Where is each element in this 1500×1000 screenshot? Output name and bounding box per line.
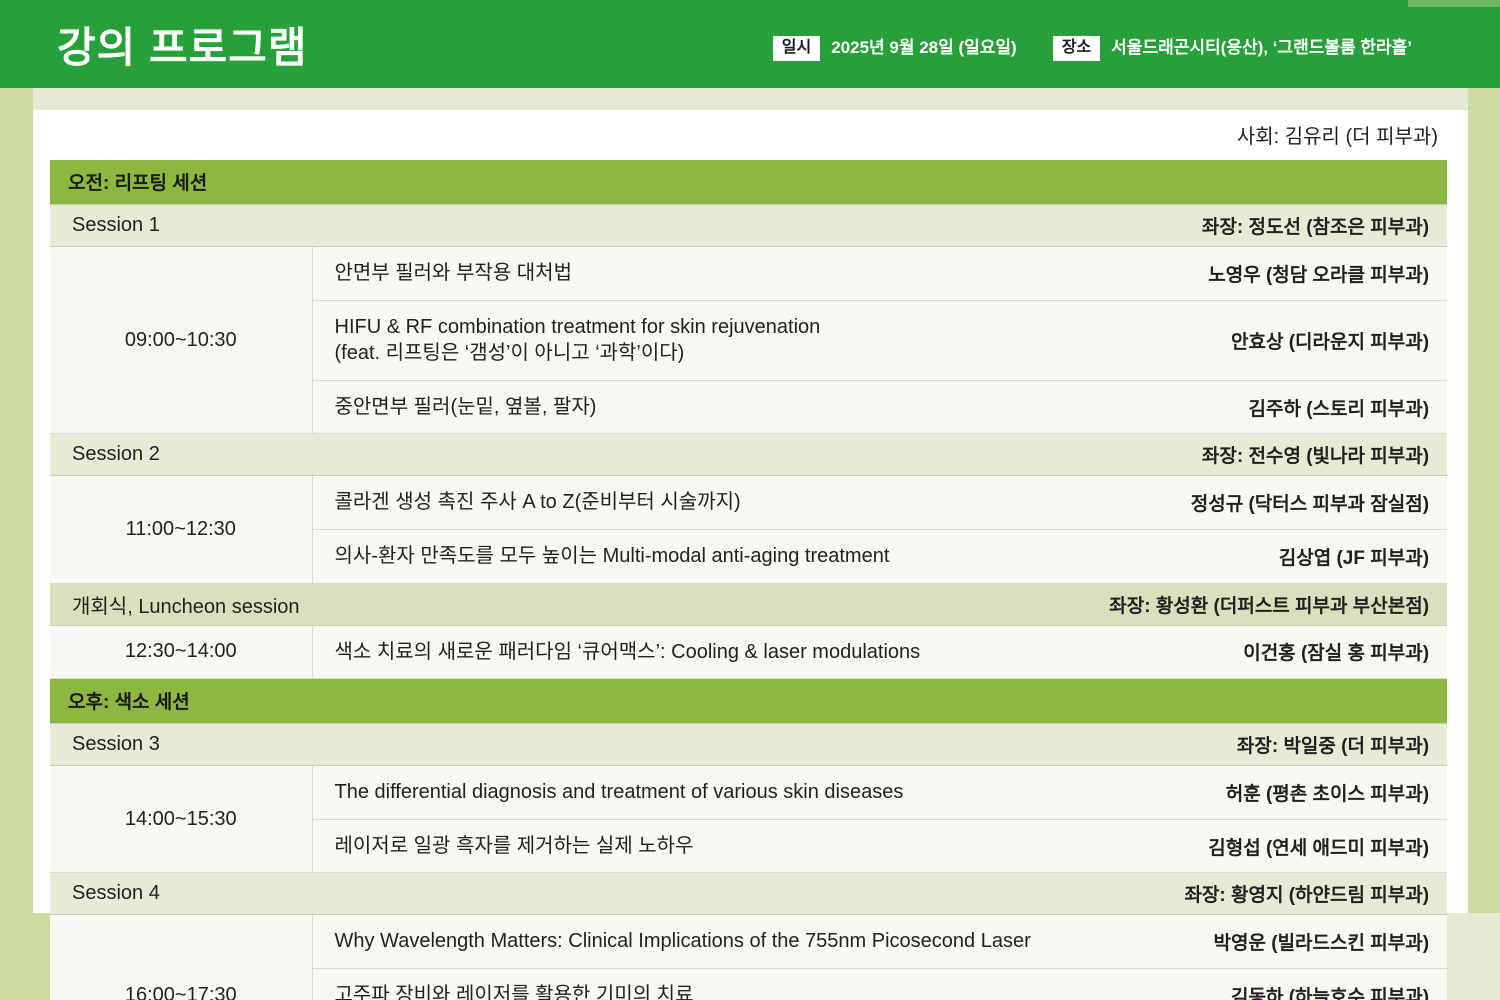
venue-value: 서울드래곤시티(용산), ‘그랜드볼룸 한라홀’	[1111, 39, 1412, 58]
time-cell: 16:00~17:30	[50, 915, 312, 1000]
session-name: 개회식, Luncheon session	[50, 583, 1082, 625]
session-chair: 좌장: 황성환 (더퍼스트 피부과 부산본점)	[1082, 583, 1447, 625]
section-header-label: 오후: 색소 세션	[50, 679, 1447, 724]
speaker-name: 김주하 (스토리 피부과)	[1082, 380, 1447, 434]
schedule-row: 11:00~12:30콜라겐 생성 촉진 주사 A to Z(준비부터 시술까지…	[50, 476, 1447, 530]
schedule-row: 09:00~10:30안면부 필러와 부작용 대처법노영우 (청담 오라클 피부…	[50, 247, 1447, 301]
session-name: Session 1	[50, 205, 1082, 247]
mc-line: 사회: 김유리 (더 피부과)	[1237, 120, 1438, 149]
lecture-title: 의사-환자 만족도를 모두 높이는 Multi-modal anti-aging…	[312, 529, 1082, 583]
lecture-title: Why Wavelength Matters: Clinical Implica…	[312, 915, 1082, 969]
lecture-title: 색소 치료의 새로운 패러다임 ‘큐어맥스’: Cooling & laser …	[312, 625, 1082, 679]
session-name: Session 4	[50, 873, 1082, 915]
header-meta: 일시 2025년 9월 28일 (일요일) 장소 서울드래곤시티(용산), ‘그…	[773, 36, 1412, 61]
under-header-band	[33, 88, 1468, 110]
venue-label-badge: 장소	[1053, 36, 1100, 61]
speaker-name: 허훈 (평촌 초이스 피부과)	[1082, 766, 1447, 820]
date-label-badge: 일시	[773, 36, 820, 61]
speaker-name: 박영운 (빌라드스킨 피부과)	[1082, 915, 1447, 969]
time-cell: 14:00~15:30	[50, 766, 312, 873]
session-header-row: Session 1좌장: 정도선 (참조은 피부과)	[50, 205, 1447, 247]
session-header-row: Session 3좌장: 박일중 (더 피부과)	[50, 724, 1447, 766]
speaker-name: 노영우 (청담 오라클 피부과)	[1082, 247, 1447, 301]
time-cell: 11:00~12:30	[50, 476, 312, 583]
lecture-title: 콜라겐 생성 촉진 주사 A to Z(준비부터 시술까지)	[312, 476, 1082, 530]
session-chair: 좌장: 박일중 (더 피부과)	[1082, 724, 1447, 766]
page-title: 강의 프로그램	[57, 14, 308, 75]
schedule-table: 오전: 리프팅 세션Session 1좌장: 정도선 (참조은 피부과)09:0…	[50, 160, 1447, 1000]
lecture-title: 고주파 장비와 레이저를 활용한 기미의 치료	[312, 968, 1082, 1000]
date-value: 2025년 9월 28일 (일요일)	[831, 39, 1017, 58]
time-cell: 09:00~10:30	[50, 247, 312, 434]
schedule-row: 16:00~17:30Why Wavelength Matters: Clini…	[50, 915, 1447, 969]
page-header: 강의 프로그램 일시 2025년 9월 28일 (일요일) 장소 서울드래곤시티…	[0, 0, 1500, 88]
speaker-name: 안효상 (디라운지 피부과)	[1082, 300, 1447, 380]
schedule-row: 14:00~15:30The differential diagnosis an…	[50, 766, 1447, 820]
speaker-name: 정성규 (닥터스 피부과 잠실점)	[1082, 476, 1447, 530]
speaker-name: 이건홍 (잠실 홍 피부과)	[1082, 625, 1447, 679]
speaker-name: 김형섭 (연세 애드미 피부과)	[1082, 819, 1447, 873]
lecture-title: 레이저로 일광 흑자를 제거하는 실제 노하우	[312, 819, 1082, 873]
section-header-row: 오후: 색소 세션	[50, 679, 1447, 724]
session-header-row: Session 2좌장: 전수영 (빛나라 피부과)	[50, 434, 1447, 476]
lecture-title: 안면부 필러와 부작용 대처법	[312, 247, 1082, 301]
session-chair: 좌장: 정도선 (참조은 피부과)	[1082, 205, 1447, 247]
session-chair: 좌장: 황영지 (하얀드림 피부과)	[1082, 873, 1447, 915]
lecture-title: HIFU & RF combination treatment for skin…	[312, 300, 1082, 380]
left-accent-band	[0, 88, 33, 1000]
schedule-body: 오전: 리프팅 세션Session 1좌장: 정도선 (참조은 피부과)09:0…	[50, 160, 1447, 1000]
program-page: 강의 프로그램 일시 2025년 9월 28일 (일요일) 장소 서울드래곤시티…	[0, 0, 1500, 1000]
session-name: Session 3	[50, 724, 1082, 766]
session-header-row: 개회식, Luncheon session좌장: 황성환 (더퍼스트 피부과 부…	[50, 583, 1447, 625]
session-name: Session 2	[50, 434, 1082, 476]
right-accent-band	[1468, 88, 1500, 913]
lecture-title: The differential diagnosis and treatment…	[312, 766, 1082, 820]
speaker-name: 김상엽 (JF 피부과)	[1082, 529, 1447, 583]
time-cell: 12:30~14:00	[50, 625, 312, 679]
schedule-row: 12:30~14:00색소 치료의 새로운 패러다임 ‘큐어맥스’: Cooli…	[50, 625, 1447, 679]
speaker-name: 김동하 (하늘호수 피부과)	[1082, 968, 1447, 1000]
section-header-row: 오전: 리프팅 세션	[50, 160, 1447, 205]
session-header-row: Session 4좌장: 황영지 (하얀드림 피부과)	[50, 873, 1447, 915]
header-corner-tab	[1408, 0, 1500, 7]
lecture-title: 중안면부 필러(눈밑, 옆볼, 팔자)	[312, 380, 1082, 434]
session-chair: 좌장: 전수영 (빛나라 피부과)	[1082, 434, 1447, 476]
section-header-label: 오전: 리프팅 세션	[50, 160, 1447, 205]
